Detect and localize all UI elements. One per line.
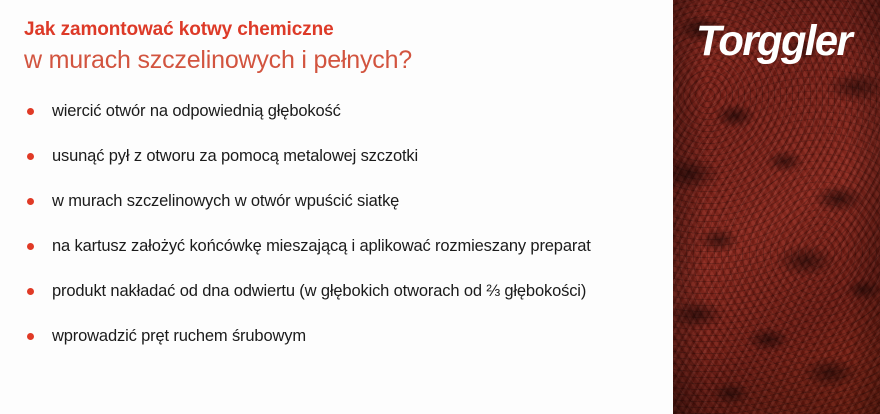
list-item-label: produkt nakładać od dna odwiertu (w głęb… <box>52 278 644 304</box>
page-title-line-2: w murach szczelinowych i pełnych? <box>24 44 654 76</box>
bullet-dot-icon <box>27 333 34 340</box>
brand-texture-panel: Torggler <box>673 0 880 414</box>
instruction-slide: Jak zamontować kotwy chemiczne w murach … <box>0 0 880 414</box>
brand-logo: Torggler <box>681 20 866 63</box>
content-area: Jak zamontować kotwy chemiczne w murach … <box>0 0 673 414</box>
bullet-dot-icon <box>27 288 34 295</box>
list-item-label: w murach szczelinowych w otwór wpuścić s… <box>52 188 644 214</box>
bullet-dot-icon <box>27 243 34 250</box>
list-item: wiercić otwór na odpowiednią głębokość <box>24 98 644 124</box>
list-item-label: wprowadzić pręt ruchem śrubowym <box>52 323 644 349</box>
list-item: usunąć pył z otworu za pomocą metalowej … <box>24 143 644 169</box>
bullet-dot-icon <box>27 153 34 160</box>
list-item: wprowadzić pręt ruchem śrubowym <box>24 323 644 349</box>
list-item: na kartusz założyć końcówkę mieszającą i… <box>24 233 644 259</box>
steps-list: wiercić otwór na odpowiednią głębokość u… <box>24 98 644 349</box>
page-title-line-1: Jak zamontować kotwy chemiczne <box>24 18 654 42</box>
bullet-dot-icon <box>27 198 34 205</box>
list-item-label: na kartusz założyć końcówkę mieszającą i… <box>52 233 644 259</box>
bullet-dot-icon <box>27 108 34 115</box>
list-item: produkt nakładać od dna odwiertu (w głęb… <box>24 278 644 304</box>
page-title: Jak zamontować kotwy chemiczne w murach … <box>24 18 654 76</box>
list-item: w murach szczelinowych w otwór wpuścić s… <box>24 188 644 214</box>
list-item-label: wiercić otwór na odpowiednią głębokość <box>52 98 644 124</box>
list-item-label: usunąć pył z otworu za pomocą metalowej … <box>52 143 644 169</box>
